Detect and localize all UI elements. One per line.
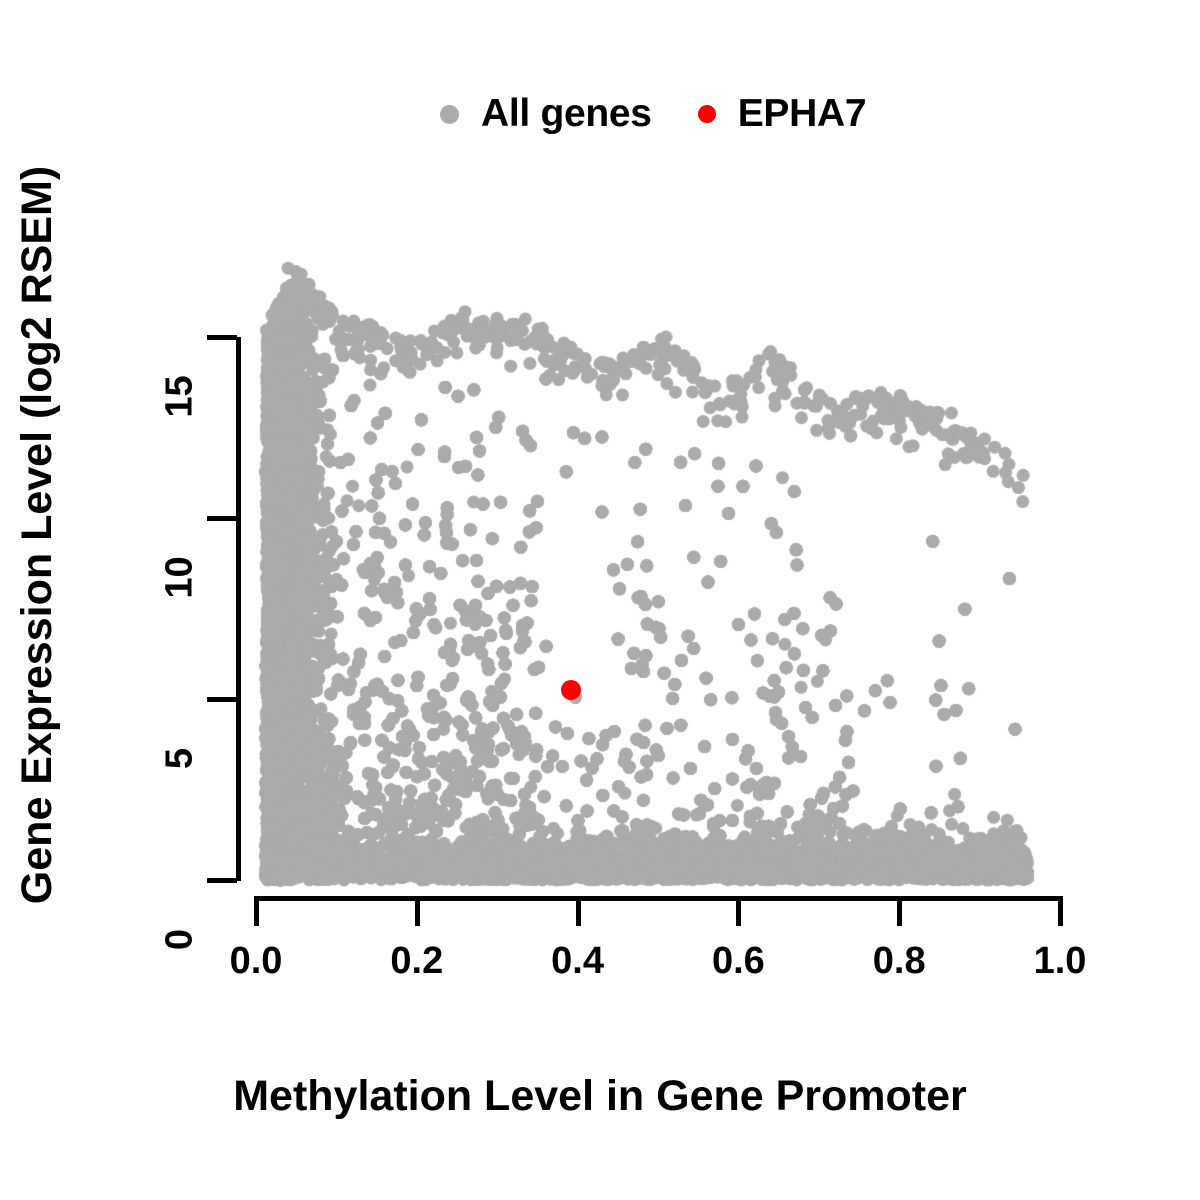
x-axis-tick-label: 0.6 (678, 940, 798, 983)
legend-marker-epha7-icon (698, 105, 716, 123)
x-axis-tick (1058, 896, 1063, 926)
legend: All genes EPHA7 (440, 88, 866, 140)
epha7-highlight-point (561, 680, 581, 700)
y-axis-tick (207, 516, 237, 521)
y-axis-line (236, 337, 241, 881)
legend-entry-epha7: EPHA7 (698, 92, 867, 136)
legend-label-epha7: EPHA7 (738, 92, 867, 136)
x-axis-tick (254, 896, 259, 926)
x-axis-tick-label: 0.2 (357, 940, 477, 983)
x-axis-tick-label: 0.4 (518, 940, 638, 983)
legend-marker-all-genes-icon (440, 105, 459, 124)
x-axis-tick-label: 1.0 (1000, 940, 1120, 983)
x-axis-tick (897, 896, 902, 926)
scatter-plot-figure: All genes EPHA7 0510150.00.20.40.60.81.0… (0, 0, 1200, 1200)
y-axis-tick (207, 335, 237, 340)
y-axis-title: Gene Expression Level (log2 RSEM) (8, 30, 66, 1040)
y-axis-tick-label: 10 (159, 518, 202, 638)
x-axis-tick-label: 0.8 (839, 940, 959, 983)
x-axis-tick (576, 896, 581, 926)
y-axis-tick (207, 697, 237, 702)
x-axis-tick-label: 0.0 (196, 940, 316, 983)
x-axis-line (256, 896, 1061, 901)
y-axis-tick-label: 5 (159, 699, 202, 819)
legend-entry-all-genes: All genes (440, 92, 652, 136)
x-axis-tick (415, 896, 420, 926)
plot-panel (256, 337, 1060, 880)
x-axis-tick (736, 896, 741, 926)
x-axis-title: Methylation Level in Gene Promoter (0, 1072, 1200, 1121)
legend-label-all-genes: All genes (481, 92, 652, 136)
y-axis-tick-label: 15 (159, 337, 202, 457)
y-axis-tick (207, 878, 237, 883)
scatter-points-canvas (196, 227, 1120, 940)
